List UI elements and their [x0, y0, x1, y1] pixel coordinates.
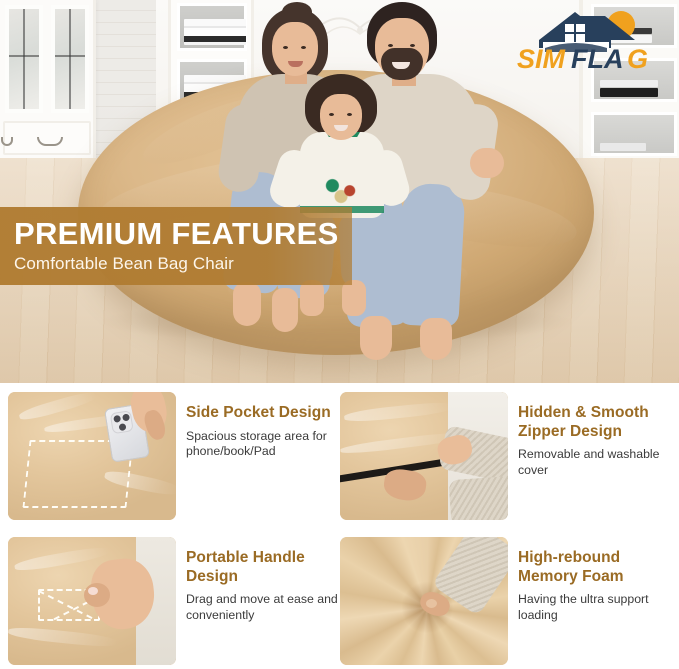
knit-sleeve — [448, 476, 508, 520]
feature-card-side-pocket: Side Pocket Design Spacious storage area… — [8, 392, 338, 527]
feature-cards-grid: Side Pocket Design Spacious storage area… — [0, 392, 679, 669]
eye — [388, 44, 393, 47]
mouth — [288, 61, 303, 67]
phone-camera-module — [110, 410, 134, 434]
eye — [347, 113, 352, 116]
child-face — [320, 94, 362, 140]
side-pocket-image — [8, 392, 176, 520]
logo-text-g: G — [627, 44, 648, 70]
banner-title: PREMIUM FEATURES — [14, 216, 352, 252]
camera-lens — [113, 415, 121, 423]
brand-logo: SIM FLA G — [509, 8, 669, 70]
eye — [329, 113, 334, 116]
man-leg — [396, 182, 465, 327]
logo-text-fla: FLA — [571, 44, 623, 70]
product-infographic: SIM FLA G PREMIUM FEATURES Comfortable B… — [0, 0, 679, 669]
child-foot — [300, 280, 324, 316]
memory-foam-image — [340, 537, 508, 665]
mouth — [334, 125, 348, 131]
man-foot — [420, 318, 452, 360]
eye — [301, 46, 306, 49]
premium-features-banner: PREMIUM FEATURES Comfortable Bean Bag Ch… — [0, 207, 352, 285]
feature-description: Removable and washable cover — [518, 447, 670, 478]
feature-text-block: Portable Handle Design Drag and move at … — [186, 549, 338, 623]
eye — [283, 46, 288, 49]
hero-image: SIM FLA G PREMIUM FEATURES Comfortable B… — [0, 0, 679, 383]
woman-foot — [233, 282, 261, 326]
handle-image — [8, 537, 176, 665]
eye — [410, 44, 415, 47]
clasped-hands — [470, 148, 504, 178]
man-foot — [360, 316, 392, 360]
camera-lens — [122, 413, 130, 421]
feature-title: High-rebound Memory Foam — [518, 549, 670, 586]
feature-card-handle: Portable Handle Design Drag and move at … — [8, 537, 338, 669]
camera-lens — [119, 423, 127, 431]
logo-text-sim: SIM — [517, 44, 566, 70]
feature-row: Side Pocket Design Spacious storage area… — [0, 392, 679, 527]
feature-text-block: High-rebound Memory Foam Having the ultr… — [518, 549, 670, 623]
feature-description: Drag and move at ease and conveniently — [186, 592, 338, 623]
child-foot — [342, 280, 366, 316]
feature-title: Side Pocket Design — [186, 404, 338, 423]
woman-foot — [272, 288, 298, 332]
feature-card-zipper: Hidden & Smooth Zipper Design Removable … — [340, 392, 670, 527]
woman-face — [272, 22, 318, 76]
feature-row: Portable Handle Design Drag and move at … — [0, 537, 679, 669]
child-sweater-motif — [318, 172, 366, 206]
fingernail — [88, 587, 98, 595]
banner-subtitle: Comfortable Bean Bag Chair — [14, 252, 352, 276]
feature-description: Having the ultra support loading — [518, 592, 670, 623]
feature-description: Spacious storage area for phone/book/Pad — [186, 429, 338, 460]
feature-title: Portable Handle Design — [186, 549, 338, 586]
zipper-image — [340, 392, 508, 520]
feature-text-block: Side Pocket Design Spacious storage area… — [186, 404, 338, 460]
thumb — [84, 583, 110, 607]
knuckle — [426, 599, 437, 608]
feature-card-memory-foam: High-rebound Memory Foam Having the ultr… — [340, 537, 670, 669]
feature-title: Hidden & Smooth Zipper Design — [518, 404, 670, 441]
feature-text-block: Hidden & Smooth Zipper Design Removable … — [518, 404, 670, 478]
